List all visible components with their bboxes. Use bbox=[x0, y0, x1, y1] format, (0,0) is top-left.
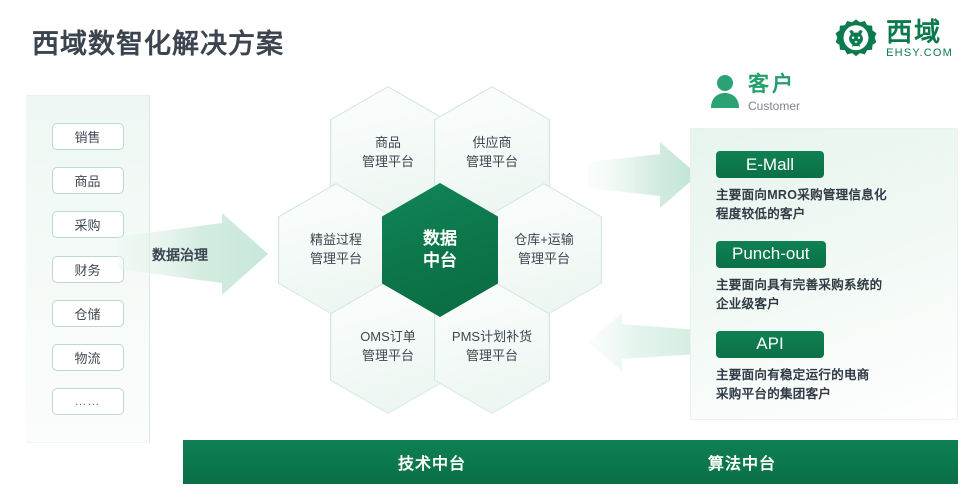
source-chip-more[interactable]: …… bbox=[52, 388, 124, 415]
foundation-bar: 技术中台 算法中台 bbox=[183, 440, 958, 484]
channel-block-api: API 主要面向有稳定运行的电商 采购平台的集团客户 bbox=[716, 331, 935, 405]
foundation-item-tech[interactable]: 技术中台 bbox=[398, 450, 466, 474]
source-chip-product[interactable]: 商品 bbox=[52, 167, 124, 194]
flow-arrow-from-customer bbox=[588, 312, 698, 372]
channel-badge-api[interactable]: API bbox=[716, 331, 824, 358]
channel-badge-emall[interactable]: E-Mall bbox=[716, 151, 824, 178]
source-chip-logistics[interactable]: 物流 bbox=[52, 344, 124, 371]
page-title: 西域数智化解决方案 bbox=[32, 22, 284, 61]
customer-title-en: Customer bbox=[748, 100, 800, 112]
logo-name-cn: 西域 bbox=[886, 19, 942, 45]
hex-label: 仓库+运输 管理平台 bbox=[514, 231, 574, 269]
customer-channels-panel: E-Mall 主要面向MRO采购管理信息化 程度较低的客户 Punch-out … bbox=[690, 128, 958, 420]
customer-title-cn: 客户 bbox=[748, 74, 800, 95]
lion-gear-logo-icon bbox=[835, 18, 877, 60]
hex-label: 精益过程 管理平台 bbox=[310, 231, 362, 269]
hex-label: 供应商 管理平台 bbox=[466, 134, 518, 172]
hex-label: PMS计划补货 管理平台 bbox=[452, 328, 532, 366]
channel-block-punchout: Punch-out 主要面向具有完善采购系统的 企业级客户 bbox=[716, 241, 935, 315]
hex-core-label: 数据 中台 bbox=[423, 228, 457, 272]
governance-label: 数据治理 bbox=[152, 245, 208, 265]
flow-arrow-to-customer bbox=[588, 140, 698, 210]
source-chip-warehouse[interactable]: 仓储 bbox=[52, 300, 124, 327]
channel-block-emall: E-Mall 主要面向MRO采购管理信息化 程度较低的客户 bbox=[716, 151, 935, 225]
logo-name-en: EHSY.COM bbox=[886, 48, 953, 59]
channel-description-api: 主要面向有稳定运行的电商 采购平台的集团客户 bbox=[716, 366, 935, 405]
person-icon bbox=[710, 74, 740, 108]
slide-canvas: 西域数智化解决方案 西域 EHSY.COM 销售 商品 bbox=[0, 0, 975, 500]
arrow-right-icon bbox=[588, 140, 698, 210]
brand-logo: 西域 EHSY.COM bbox=[835, 18, 953, 60]
source-chip-purchase[interactable]: 采购 bbox=[52, 211, 124, 238]
foundation-item-algorithm[interactable]: 算法中台 bbox=[708, 450, 776, 474]
channel-badge-punchout[interactable]: Punch-out bbox=[716, 241, 826, 268]
hex-label: OMS订单 管理平台 bbox=[360, 328, 416, 366]
source-chip-finance[interactable]: 财务 bbox=[52, 256, 124, 283]
channel-description-emall: 主要面向MRO采购管理信息化 程度较低的客户 bbox=[716, 186, 935, 225]
customer-header: 客户 Customer bbox=[710, 74, 800, 112]
arrow-left-icon bbox=[588, 312, 698, 372]
platform-hexagon-cluster: 商品 管理平台 供应商 管理平台 精益过程 管理平台 仓库+运输 管理平台 OM… bbox=[262, 82, 612, 418]
channel-description-punchout: 主要面向具有完善采购系统的 企业级客户 bbox=[716, 276, 935, 315]
source-chip-sales[interactable]: 销售 bbox=[52, 123, 124, 150]
hex-label: 商品 管理平台 bbox=[362, 134, 414, 172]
